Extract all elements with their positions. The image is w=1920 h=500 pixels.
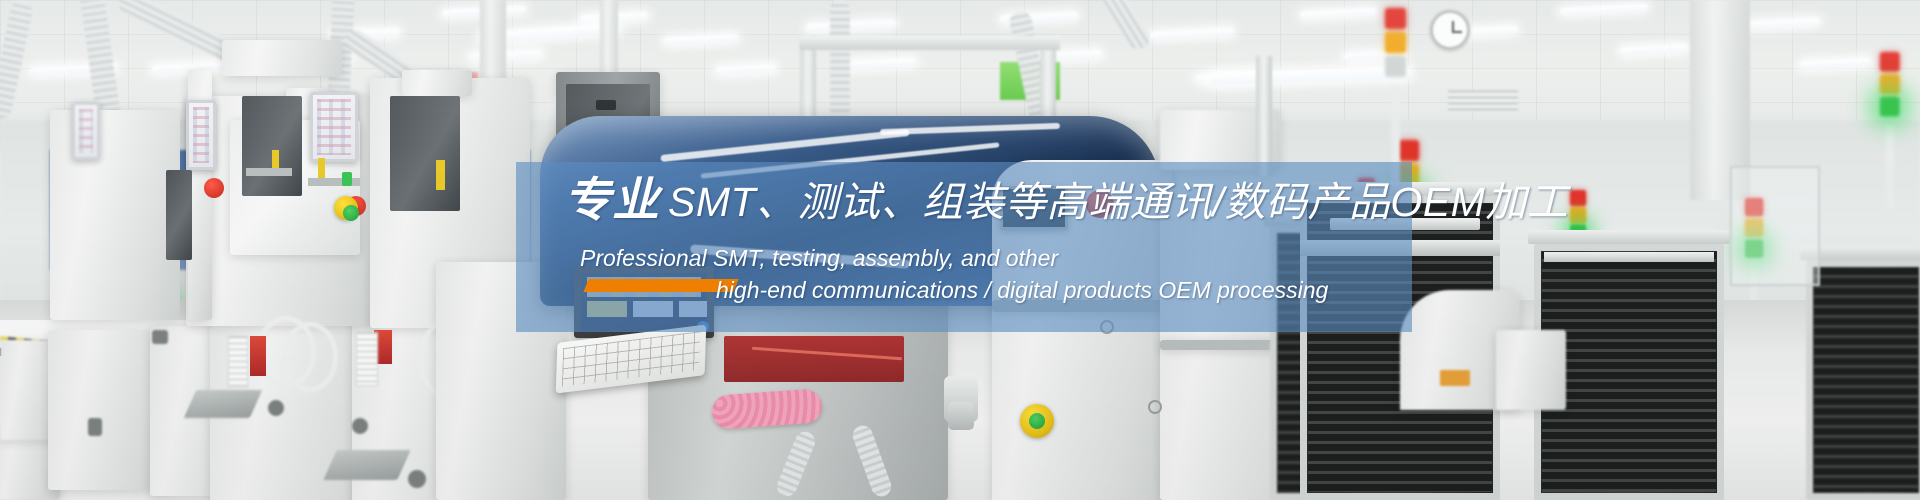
emergency-stop-button-3[interactable] [334, 196, 358, 220]
emergency-stop-button-1[interactable] [204, 178, 224, 198]
red-tag-1 [250, 336, 266, 376]
hero-headline: 专业SMT、测试、组装等高端通讯/数码产品OEM加工 [516, 168, 1412, 234]
machine-red-band [724, 336, 904, 382]
pcb-magazine-rack-far-right [1806, 260, 1920, 500]
hero-text-overlay-panel: 专业SMT、测试、组装等高端通讯/数码产品OEM加工 Professional … [516, 162, 1412, 332]
floor-pallet-1 [184, 390, 262, 418]
hero-subtitle-line-2: high-end communications / digital produc… [516, 275, 1412, 305]
feeder-marker-3 [436, 160, 445, 190]
door-handle[interactable] [596, 100, 616, 110]
machine-hmi-screen-0 [72, 102, 100, 160]
machine-caster-3 [268, 400, 284, 416]
machine-caster-1 [88, 418, 102, 436]
machine-dark-panel-2 [390, 96, 460, 211]
gantry-beam [800, 36, 1060, 50]
machine-behind-rack-2 [1496, 330, 1566, 410]
machine-crossbeam-1 [222, 40, 342, 76]
wall-clock-icon [1430, 10, 1470, 50]
machine-dark-panel-1 [242, 96, 302, 196]
floor-pallet-2 [323, 450, 410, 480]
machine-hmi-screen-1 [186, 100, 216, 170]
pivot-joint-2 [948, 402, 974, 430]
machine-caster-2 [152, 330, 168, 344]
conveyor-rail-1 [246, 168, 292, 176]
machine-hmi-screen-2 [310, 92, 358, 162]
green-indicator-button[interactable] [342, 172, 352, 186]
machine-caster-4 [352, 418, 368, 434]
machine-top-plate [402, 70, 472, 96]
machine-dark-panel-3 [166, 170, 192, 260]
orange-marker [1440, 370, 1470, 386]
machine-caster-5 [408, 470, 426, 488]
machine-body-0 [50, 110, 180, 320]
cable-coil-2 [282, 322, 338, 392]
wall-vent [1448, 90, 1518, 112]
vertical-post-right [1256, 56, 1272, 176]
hero-headline-emphasis: 专业 [564, 173, 660, 226]
machine-doc-label-1 [228, 336, 248, 388]
cabinet-port-2 [1148, 400, 1162, 414]
rack-right-top-rail [1544, 252, 1714, 262]
clear-safety-panel [1730, 166, 1820, 286]
hero-banner: 专业SMT、测试、组装等高端通讯/数码产品OEM加工 Professional … [0, 0, 1920, 500]
hero-subtitle-line-1: Professional SMT, testing, assembly, and… [516, 243, 1412, 273]
hero-headline-rest: SMT、测试、组装等高端通讯/数码产品OEM加工 [668, 179, 1568, 225]
conveyor-rail-2 [308, 178, 360, 186]
machine-doc-label-2 [356, 332, 378, 386]
emergency-stop-button-main[interactable] [1020, 404, 1054, 438]
signal-tower-light-10 [1880, 52, 1900, 220]
